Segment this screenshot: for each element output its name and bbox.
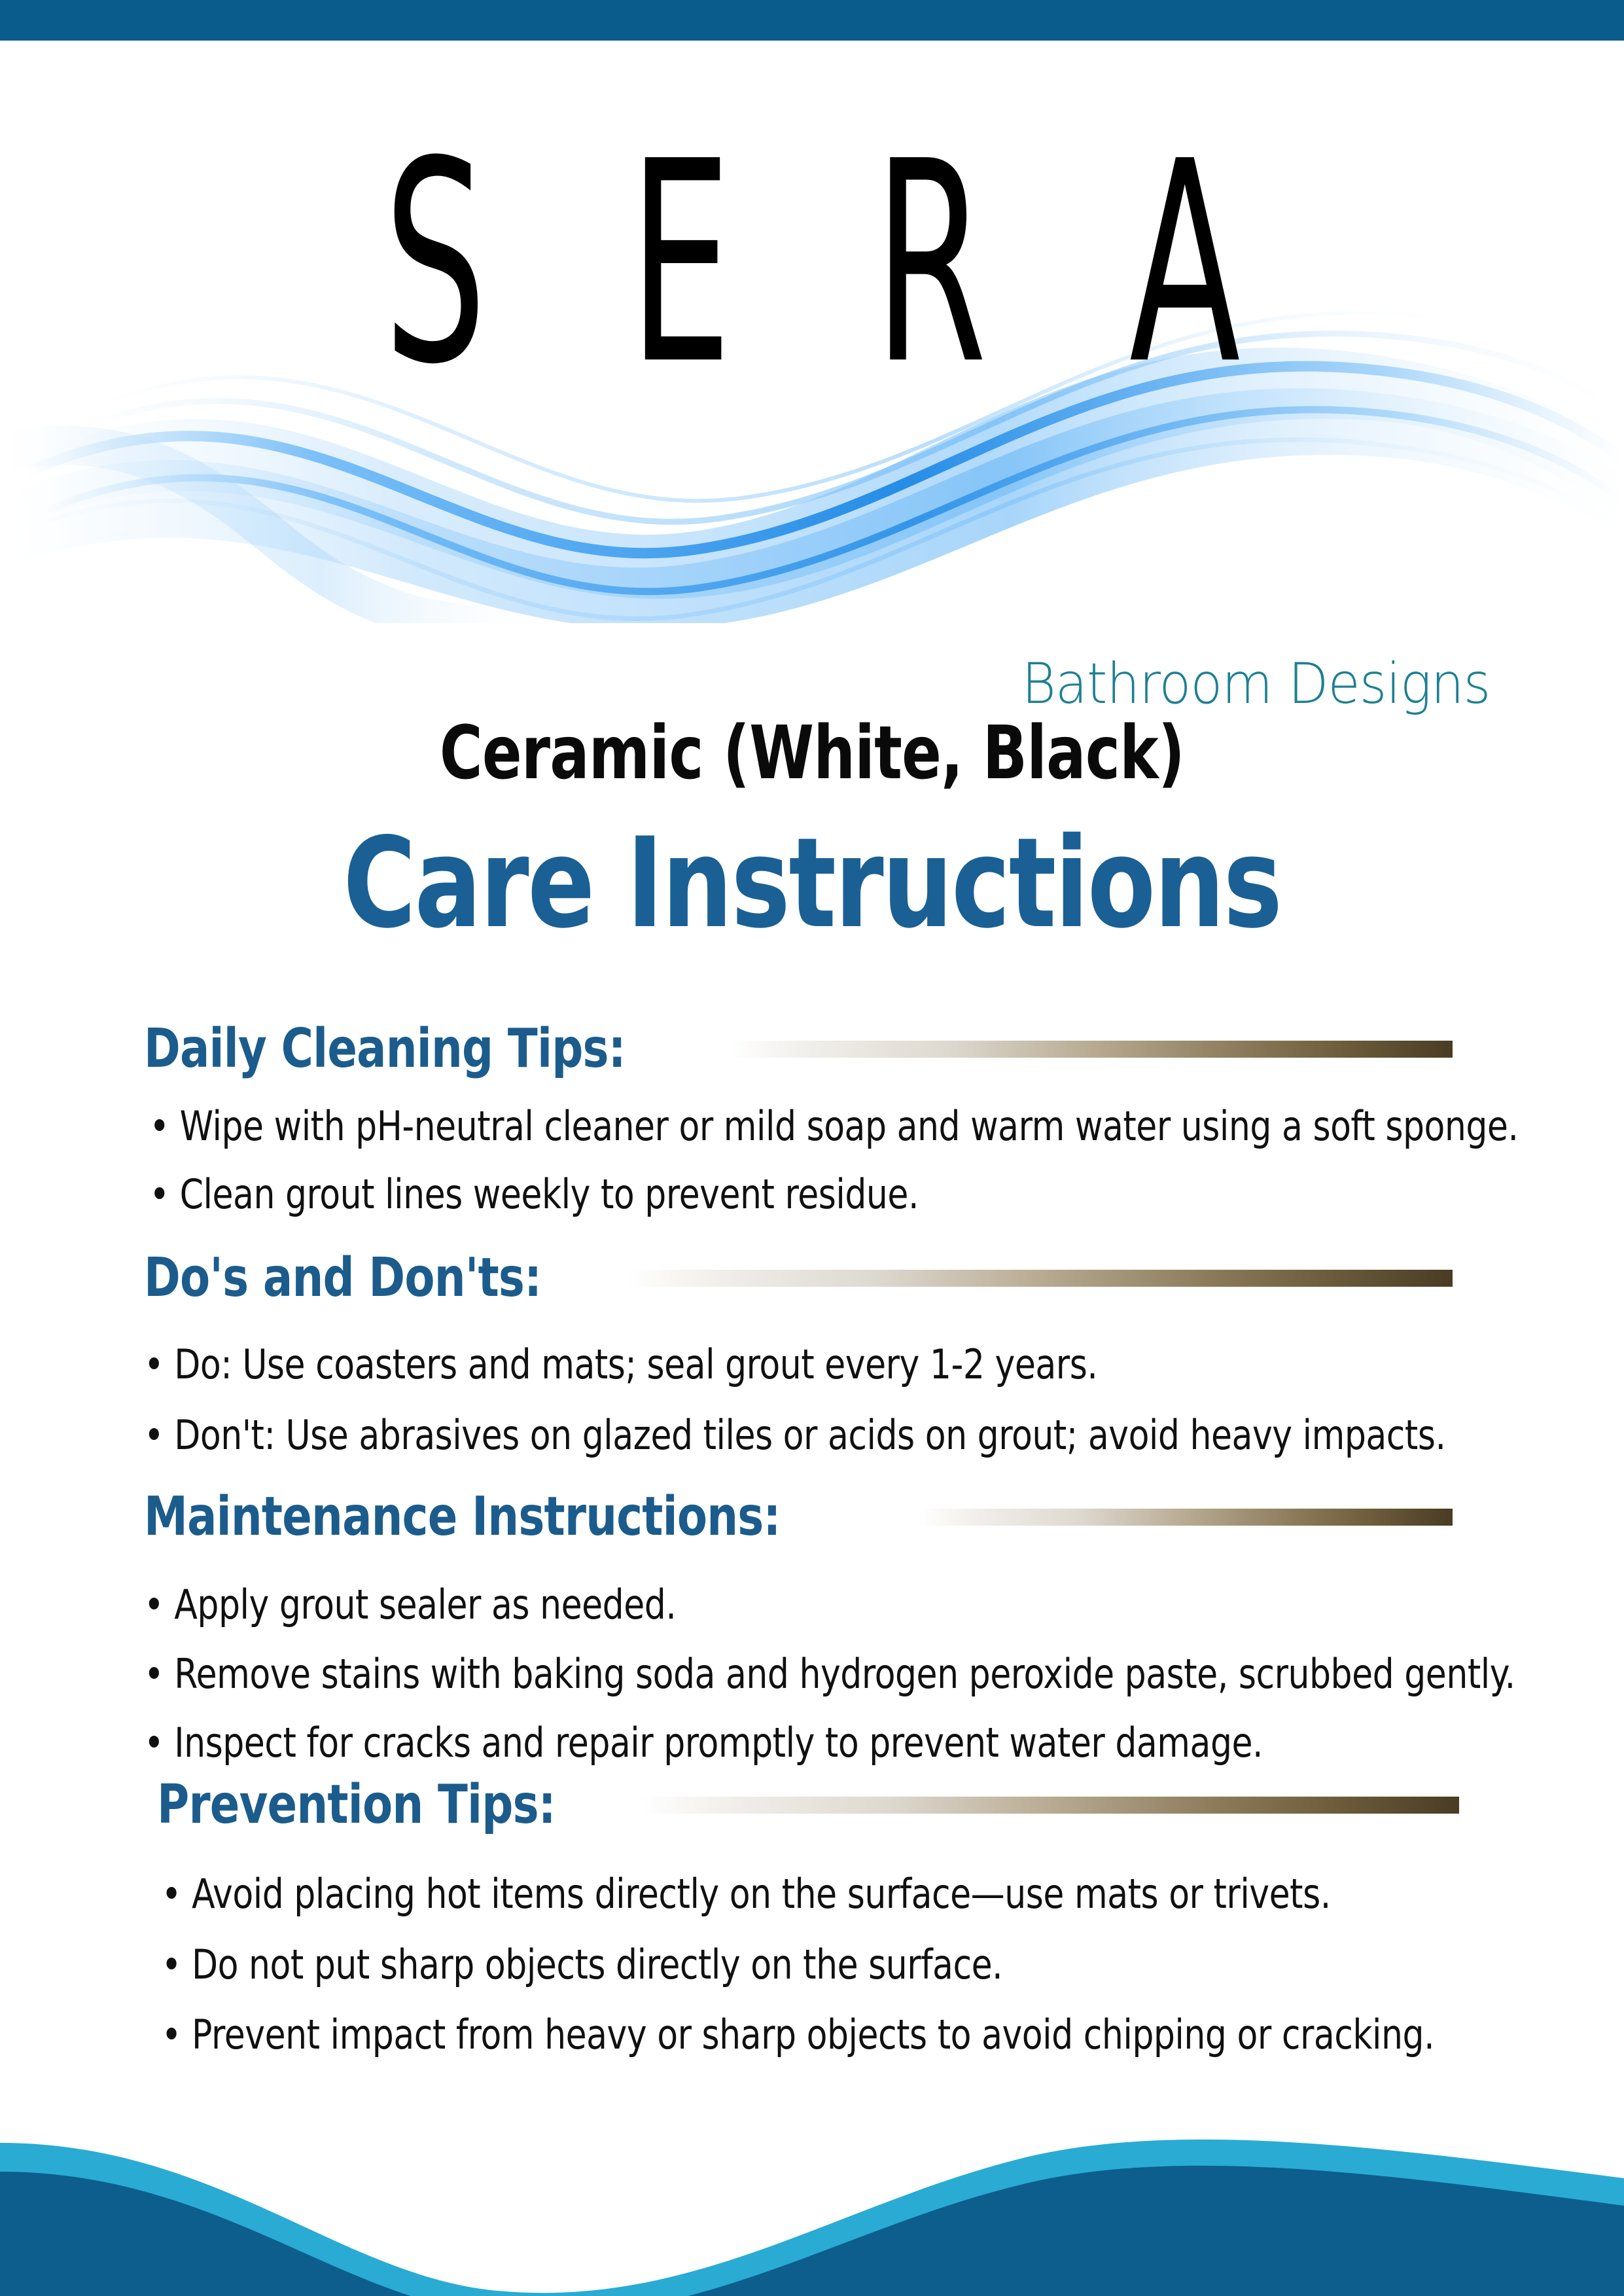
section-header: Do's and Don'ts: bbox=[144, 1250, 1453, 1306]
section-divider-rule bbox=[642, 1797, 1460, 1814]
section-title: Do's and Don'ts: bbox=[144, 1250, 541, 1306]
section-divider-rule bbox=[730, 1041, 1453, 1058]
footer-wave-deep bbox=[0, 2166, 1624, 2296]
footer-wave-icon bbox=[0, 2080, 1624, 2296]
list-item: • Clean grout lines weekly to prevent re… bbox=[144, 1172, 1243, 1217]
section-maintenance-instructions: Maintenance Instructions: • Apply grout … bbox=[144, 1489, 1453, 1789]
subject-title: Ceramic (White, Black) bbox=[162, 717, 1462, 790]
bullet-list: • Avoid placing hot items directly on th… bbox=[157, 1871, 1459, 2057]
section-divider-rule bbox=[627, 1270, 1453, 1287]
bullet-list: • Apply grout sealer as needed. • Remove… bbox=[144, 1582, 1453, 1765]
wave-stroke-5 bbox=[20, 440, 1624, 619]
section-divider-rule bbox=[919, 1509, 1453, 1526]
brand-tagline: Bathroom Designs bbox=[114, 656, 1624, 712]
list-item: • Do: Use coasters and mats; seal grout … bbox=[144, 1342, 1243, 1387]
list-item: • Inspect for cracks and repair promptly… bbox=[144, 1720, 1243, 1765]
list-item: • Don't: Use abrasives on glazed tiles o… bbox=[144, 1412, 1243, 1458]
bullet-list: • Do: Use coasters and mats; seal grout … bbox=[144, 1342, 1453, 1458]
page-title: Care Instructions bbox=[162, 821, 1462, 946]
brand-wordmark: S E R A bbox=[309, 126, 1316, 403]
section-prevention-tips: Prevention Tips: • Avoid placing hot ite… bbox=[157, 1777, 1459, 2082]
section-title: Prevention Tips: bbox=[157, 1777, 556, 1833]
list-item: • Wipe with pH-neutral cleaner or mild s… bbox=[144, 1103, 1243, 1149]
list-item: • Prevent impact from heavy or sharp obj… bbox=[157, 2012, 1251, 2057]
poster-page: S E R A bbox=[0, 0, 1624, 2296]
section-header: Maintenance Instructions: bbox=[144, 1489, 1453, 1545]
section-dos-and-donts: Do's and Don'ts: • Do: Use coasters and … bbox=[144, 1250, 1453, 1482]
top-accent-bar bbox=[0, 0, 1624, 41]
section-header: Daily Cleaning Tips: bbox=[144, 1021, 1453, 1077]
list-item: • Remove stains with baking soda and hyd… bbox=[144, 1651, 1243, 1696]
wave-stroke-2 bbox=[46, 410, 1624, 592]
section-title: Daily Cleaning Tips: bbox=[144, 1021, 626, 1077]
section-header: Prevention Tips: bbox=[157, 1777, 1459, 1833]
wave-stroke-6 bbox=[0, 446, 537, 623]
list-item: • Do not put sharp objects directly on t… bbox=[157, 1942, 1251, 1987]
section-title: Maintenance Instructions: bbox=[144, 1489, 781, 1545]
section-daily-cleaning-tips: Daily Cleaning Tips: • Wipe with pH-neut… bbox=[144, 1021, 1453, 1239]
brand-header: S E R A bbox=[0, 41, 1624, 702]
list-item: • Apply grout sealer as needed. bbox=[144, 1582, 1243, 1627]
list-item: • Avoid placing hot items directly on th… bbox=[157, 1871, 1251, 1916]
bullet-list: • Wipe with pH-neutral cleaner or mild s… bbox=[144, 1103, 1453, 1217]
